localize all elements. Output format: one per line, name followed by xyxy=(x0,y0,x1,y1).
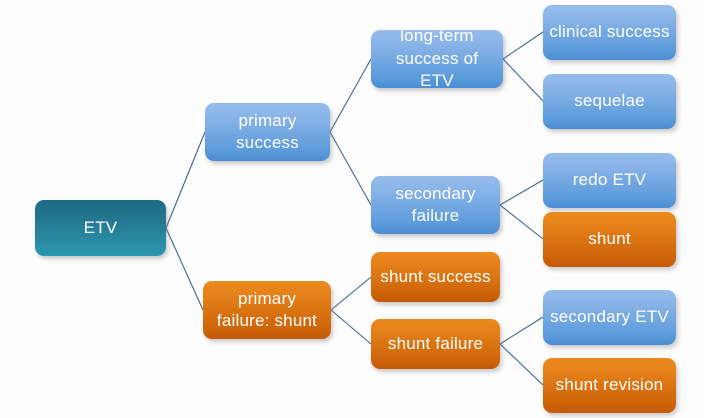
edge-long-term-to-clinical-success xyxy=(503,32,543,59)
edge-shunt-failure-to-secondary-etv xyxy=(500,317,543,344)
node-secondary-etv[interactable]: secondary ETV xyxy=(543,290,676,345)
edge-shunt-failure-to-shunt-revision xyxy=(500,344,543,385)
node-etv[interactable]: ETV xyxy=(35,200,166,256)
node-label-primary-failure: primary failure: shunt xyxy=(217,288,317,333)
node-label-etv: ETV xyxy=(84,217,118,239)
node-label-clinical-success: clinical success xyxy=(549,21,669,43)
edge-primary-success-to-secondary-failure xyxy=(330,132,371,205)
flowchart-canvas: ETVprimary successprimary failure: shunt… xyxy=(0,0,704,418)
node-label-shunt-failure: shunt failure xyxy=(388,333,483,355)
node-sequelae[interactable]: sequelae xyxy=(543,74,676,129)
node-long-term-success[interactable]: long-term success of ETV xyxy=(371,30,503,88)
edge-etv-to-primary-failure xyxy=(166,228,203,310)
node-shunt[interactable]: shunt xyxy=(543,212,676,267)
edge-secondary-failure-to-shunt xyxy=(500,205,543,239)
node-primary-success[interactable]: primary success xyxy=(205,103,330,161)
node-shunt-success[interactable]: shunt success xyxy=(371,252,500,302)
node-label-shunt-success: shunt success xyxy=(380,266,490,288)
edge-long-term-to-sequelae xyxy=(503,59,543,101)
edge-primary-success-to-long-term xyxy=(330,59,371,132)
node-label-shunt: shunt xyxy=(588,228,631,250)
edge-etv-to-primary-success xyxy=(166,132,205,228)
node-label-long-term-success: long-term success of ETV xyxy=(377,25,497,92)
edge-primary-failure-to-shunt-success xyxy=(331,277,371,310)
node-label-sequelae: sequelae xyxy=(574,90,645,112)
edge-primary-failure-to-shunt-failure xyxy=(331,310,371,344)
node-clinical-success[interactable]: clinical success xyxy=(543,5,676,60)
node-label-redo-etv: redo ETV xyxy=(573,169,646,191)
edge-secondary-failure-to-redo-etv xyxy=(500,180,543,205)
node-secondary-failure[interactable]: secondary failure xyxy=(371,176,500,234)
node-redo-etv[interactable]: redo ETV xyxy=(543,153,676,208)
node-label-primary-success: primary success xyxy=(236,110,299,155)
node-shunt-failure[interactable]: shunt failure xyxy=(371,319,500,369)
node-label-secondary-failure: secondary failure xyxy=(395,183,475,228)
node-primary-failure[interactable]: primary failure: shunt xyxy=(203,281,331,339)
node-label-shunt-revision: shunt revision xyxy=(556,374,664,396)
node-label-secondary-etv: secondary ETV xyxy=(550,306,669,328)
node-shunt-revision[interactable]: shunt revision xyxy=(543,358,676,413)
